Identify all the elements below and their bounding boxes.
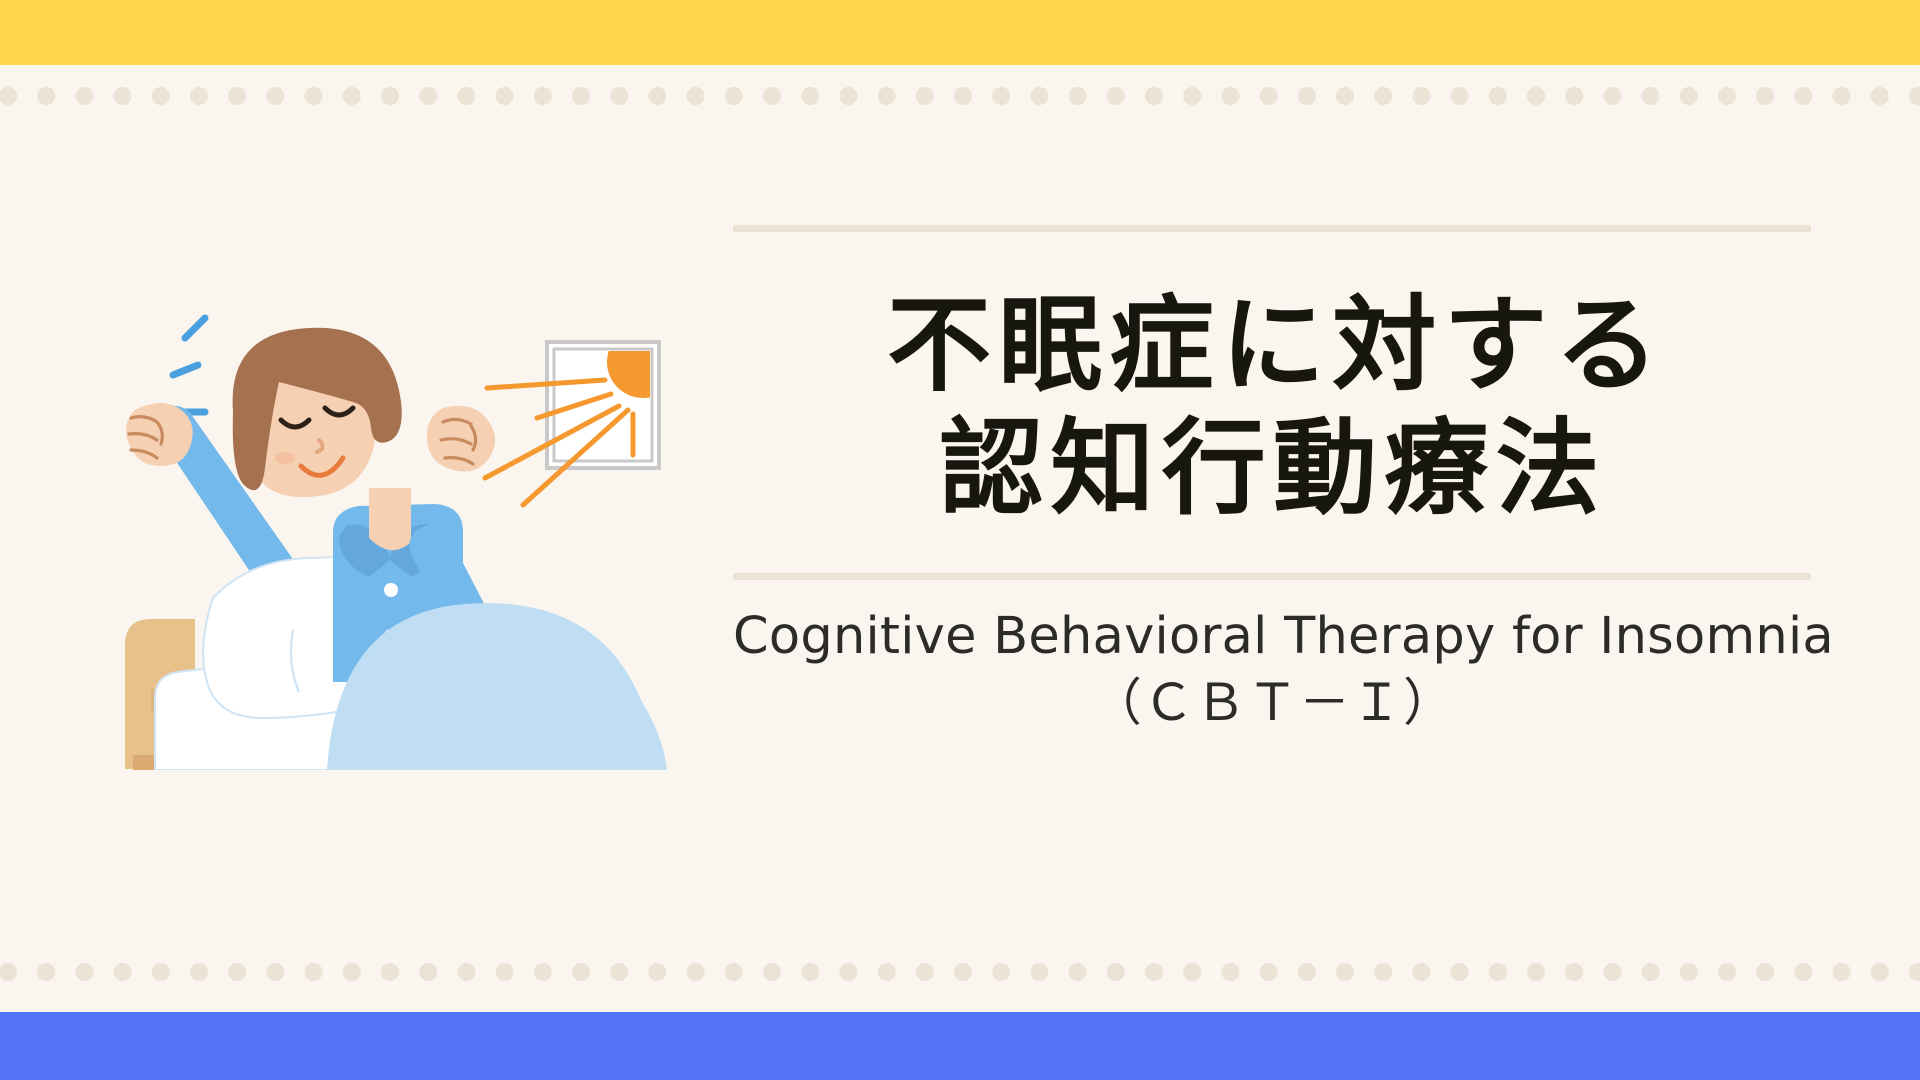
bottom-accent-band [0,1012,1920,1080]
head [233,328,402,497]
text-column: 不眠症に対する 認知行動療法 Cognitive Behavioral Ther… [733,225,1813,735]
person-stretching-in-bed-illustration [95,300,695,770]
divider-top [733,225,1811,232]
dotted-divider-top [0,86,1920,106]
top-accent-band [0,0,1920,65]
left-fist [126,403,193,466]
neck [369,488,411,550]
window-icon [547,326,679,468]
dotted-divider-bottom [0,962,1920,982]
subtitle-abbreviation: （ＣＢＴ－Ｉ） [733,673,1813,735]
subtitle-english: Cognitive Behavioral Therapy for Insomni… [733,606,1813,668]
motion-lines-icon [173,318,205,412]
right-fist [427,406,495,472]
title-block: 不眠症に対する 認知行動療法 [733,232,1813,573]
divider-middle [733,573,1811,580]
title-line-2: 認知行動療法 [733,407,1813,530]
subtitle-block: Cognitive Behavioral Therapy for Insomni… [733,580,1813,734]
title-line-1: 不眠症に対する [733,284,1813,407]
pajama-button [384,583,398,597]
sun-icon [607,326,679,398]
slide-root: 不眠症に対する 認知行動療法 Cognitive Behavioral Ther… [0,0,1920,1080]
